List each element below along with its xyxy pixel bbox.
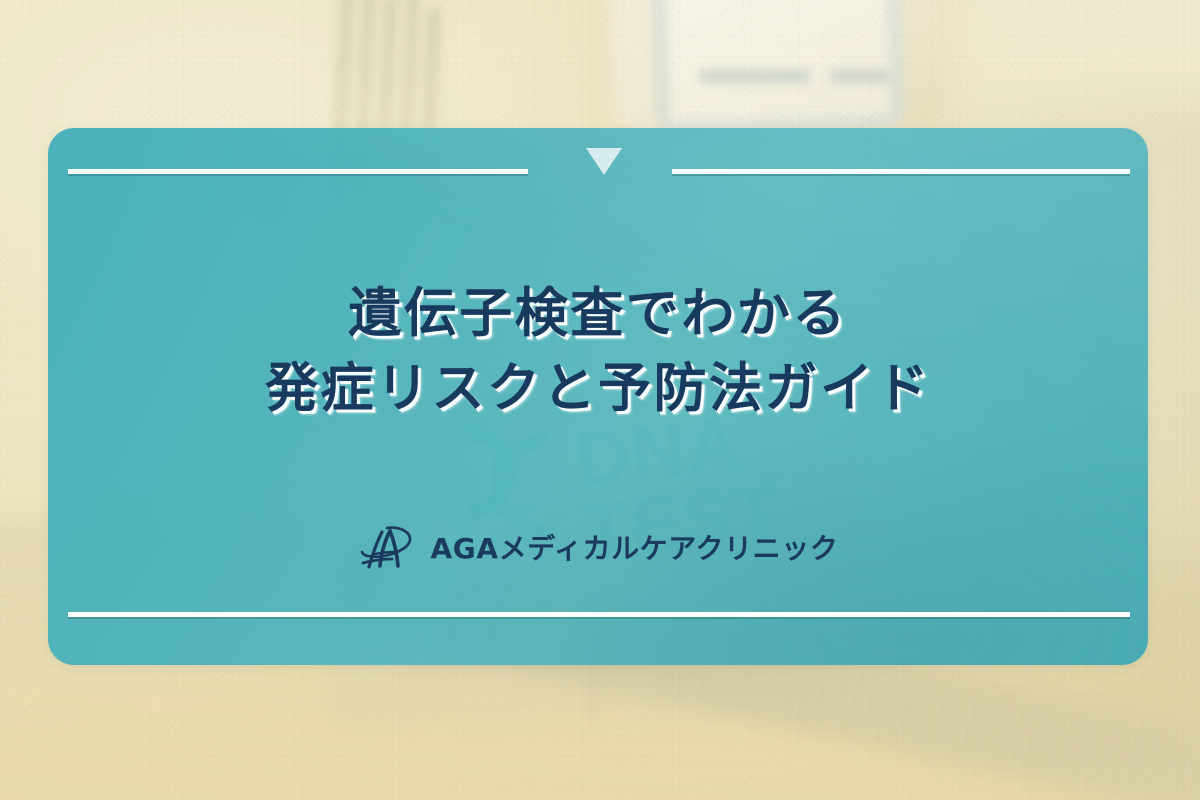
- top-decoration: [48, 153, 1148, 203]
- triangle-down-icon: [586, 148, 622, 175]
- top-rule-left: [68, 169, 528, 174]
- brand-logo: AGAメディカルケアクリニック: [48, 523, 1148, 571]
- aga-monogram-icon: [358, 523, 416, 571]
- page-title-line-1: 遺伝子検査でわかる: [48, 276, 1148, 351]
- page-title: 遺伝子検査でわかる 発症リスクと予防法ガイド: [48, 276, 1148, 427]
- content-card: 遺伝子検査でわかる 発症リスクと予防法ガイド AGAメディカルケアクリニック: [48, 128, 1148, 665]
- top-rule-right: [672, 169, 1130, 174]
- bottom-rule: [68, 612, 1130, 617]
- eyecatch-canvas: DNA TEST 遺伝子検査でわかる 発症リスクと予防法ガイド: [0, 0, 1200, 800]
- brand-name: AGAメディカルケアクリニック: [431, 527, 839, 567]
- page-title-line-2: 発症リスクと予防法ガイド: [48, 351, 1148, 426]
